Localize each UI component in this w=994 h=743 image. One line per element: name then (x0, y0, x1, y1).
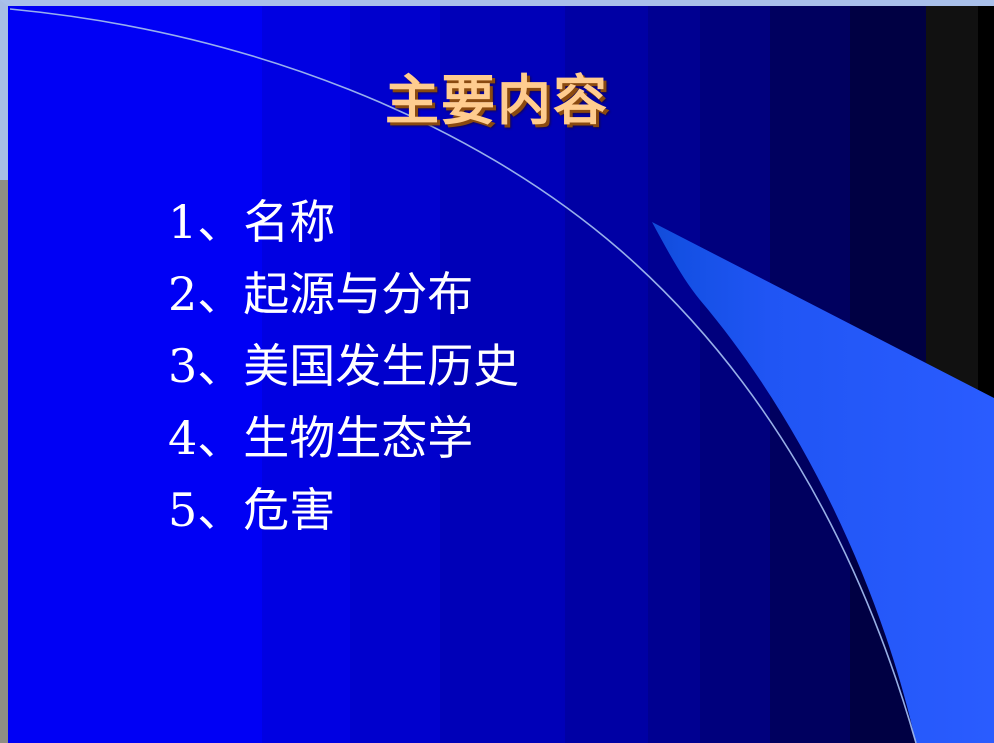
list-item: 2、 起源与分布 (168, 258, 928, 330)
list-item-label: 名称 (243, 186, 335, 258)
agenda-list: 1、 名称 2、 起源与分布 3、 美国发生历史 4、 生物生态学 5、 危害 (168, 186, 928, 546)
list-item-label: 起源与分布 (243, 258, 473, 330)
list-item: 1、 名称 (168, 186, 928, 258)
presentation-slide: 主要内容 1、 名称 2、 起源与分布 3、 美国发生历史 4、 生物生态学 5… (0, 0, 994, 743)
list-item: 3、 美国发生历史 (168, 330, 928, 402)
list-item-label: 危害 (243, 474, 335, 546)
list-item-number: 4、 (168, 402, 243, 474)
list-item-number: 1、 (168, 186, 243, 258)
list-item-number: 3、 (168, 330, 243, 402)
list-item-label: 美国发生历史 (243, 330, 519, 402)
list-item: 4、 生物生态学 (168, 402, 928, 474)
page-title: 主要内容 (0, 72, 994, 129)
slide-content: 主要内容 1、 名称 2、 起源与分布 3、 美国发生历史 4、 生物生态学 5… (0, 0, 994, 743)
list-item-number: 5、 (168, 474, 243, 546)
list-item-label: 生物生态学 (243, 402, 473, 474)
list-item-number: 2、 (168, 258, 243, 330)
list-item: 5、 危害 (168, 474, 928, 546)
